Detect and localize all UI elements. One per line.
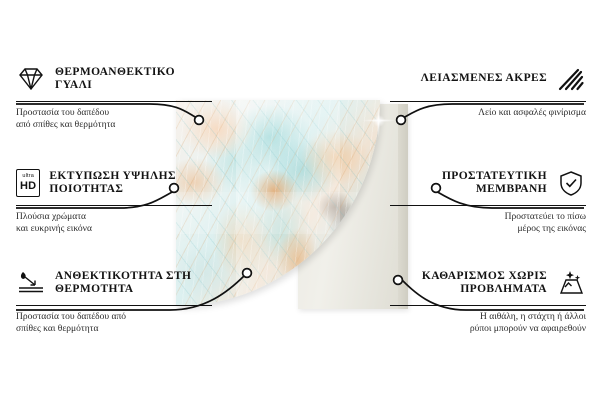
badge-ultra-text: ultra (22, 174, 34, 180)
feature-protective-membrane: ΠΡΟΣΤΑΤΕΥΤΙΚΗ ΜΕΜΒΡΑΝΗ Προστατεύει το πί… (390, 166, 586, 235)
feature-divider (16, 305, 212, 306)
feature-divider (390, 205, 586, 206)
connector-node-left-3 (243, 269, 252, 278)
feature-title: ΕΚΤΥΠΩΣΗ ΥΨΗΛΗΣ ΠΟΙΟΤΗΤΑΣ (49, 170, 212, 197)
feature-title: ΛΕΙΑΣΜΕΝΕΣ ΑΚΡΕΣ (421, 72, 547, 86)
feature-polished-edges: ΛΕΙΑΣΜΕΝΕΣ ΑΚΡΕΣ Λείο και ασφαλές φινίρι… (390, 62, 586, 119)
ultra-hd-badge-icon: ultra HD (16, 169, 40, 197)
feature-title: ΘΕΡΜΟΑΝΘΕΚΤΙΚΟ ΓΥΑΛΙ (55, 66, 212, 93)
feature-title: ΑΝΘΕΚΤΙΚΟΤΗΤΑ ΣΤΗ ΘΕΡΜΟΤΗΤΑ (55, 270, 212, 297)
diamond-icon (16, 65, 46, 93)
feature-desc: Προστασία του δαπέδου απόσπίθες και θερμ… (16, 311, 212, 335)
flame-deflect-icon (16, 269, 46, 297)
feature-easy-cleaning: ΚΑΘΑΡΙΣΜΟΣ ΧΩΡΙΣ ΠΡΟΒΛΗΜΑΤΑ Η αιθάλη, η … (390, 266, 586, 335)
feature-desc: Προστασία του δαπέδουαπό σπίθες και θερμ… (16, 107, 212, 131)
feature-divider (390, 101, 586, 102)
feature-divider (16, 205, 212, 206)
polished-edges-icon (556, 65, 586, 93)
feature-divider (16, 101, 212, 102)
feature-desc: Λείο και ασφαλές φινίρισμα (390, 107, 586, 119)
feature-desc: Προστατεύει το πίσωμέρος της εικόνας (390, 211, 586, 235)
feature-divider (390, 305, 586, 306)
sparkle-clean-icon (556, 269, 586, 297)
feature-heat-resistant-glass: ΘΕΡΜΟΑΝΘΕΚΤΙΚΟ ΓΥΑΛΙ Προστασία του δαπέδ… (16, 62, 212, 131)
feature-heat-durability: ΑΝΘΕΚΤΙΚΟΤΗΤΑ ΣΤΗ ΘΕΡΜΟΤΗΤΑ Προστασία το… (16, 266, 212, 335)
shield-check-icon (556, 169, 586, 197)
badge-hd-text: HD (20, 181, 36, 192)
feature-high-quality-print: ultra HD ΕΚΤΥΠΩΣΗ ΥΨΗΛΗΣ ΠΟΙΟΤΗΤΑΣ Πλούσ… (16, 166, 212, 235)
feature-title: ΚΑΘΑΡΙΣΜΟΣ ΧΩΡΙΣ ΠΡΟΒΛΗΜΑΤΑ (390, 270, 547, 297)
feature-title: ΠΡΟΣΤΑΤΕΥΤΙΚΗ ΜΕΜΒΡΑΝΗ (390, 170, 547, 197)
infographic-canvas: ΘΕΡΜΟΑΝΘΕΚΤΙΚΟ ΓΥΑΛΙ Προστασία του δαπέδ… (0, 0, 600, 400)
feature-desc: Η αιθάλη, η στάχτη ή άλλοιρύποι μπορούν … (390, 311, 586, 335)
feature-desc: Πλούσια χρώματακαι ευκρινής εικόνα (16, 211, 212, 235)
